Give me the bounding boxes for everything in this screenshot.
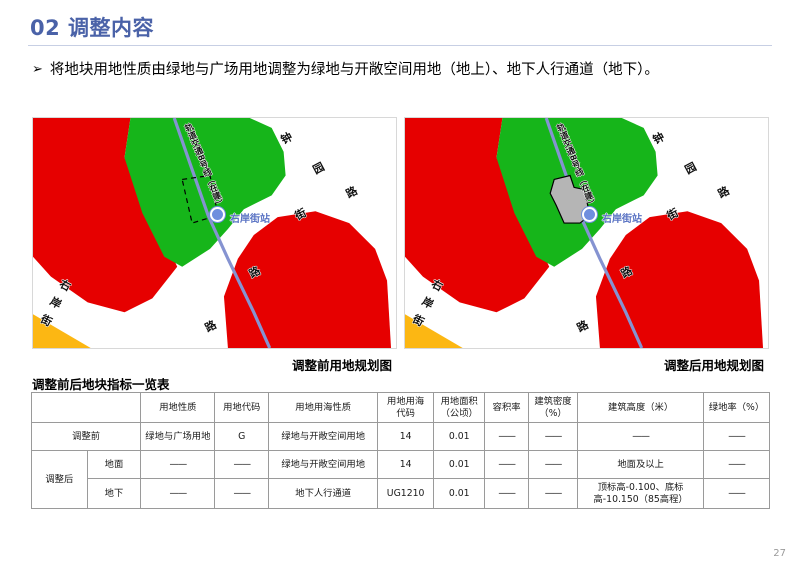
th-area-line2: （公顷） bbox=[441, 408, 478, 419]
cell-sub-underground: 地下 bbox=[87, 479, 141, 509]
map-caption-after: 调整后用地规划图 bbox=[404, 355, 769, 374]
cell-height-2: 顶标高-0.100、底标高-10.150（85高程） bbox=[578, 479, 704, 509]
cell-density-2: —— bbox=[528, 479, 577, 509]
table-header-row: 用地性质 用地代码 用地用海性质 用地用海 代码 用地面积 （公顷） 容积率 建… bbox=[32, 393, 770, 423]
page-title: 02 调整内容 bbox=[30, 12, 154, 42]
cell-use-code-1: —— bbox=[215, 451, 269, 479]
cell-use-nature-2: —— bbox=[141, 479, 215, 509]
th-use-nature: 用地性质 bbox=[141, 393, 215, 423]
map-after[interactable]: 轨道交通8号线（在建） 右岸街站 钟 园 路 街 路 路 右岸街 bbox=[404, 117, 769, 349]
station-dot-before[interactable] bbox=[210, 207, 225, 222]
th-area: 用地面积 （公顷） bbox=[433, 393, 485, 423]
page-number: 27 bbox=[773, 548, 786, 559]
station-label-after: 右岸街站 bbox=[602, 210, 642, 225]
cell-green-rate-1: —— bbox=[703, 451, 769, 479]
bullet-paragraph: ➢ 将地块用地性质由绿地与广场用地调整为绿地与开敞空间用地（地上）、地下人行通道… bbox=[32, 60, 777, 81]
cell-green-rate-0: —— bbox=[703, 423, 769, 451]
th-sea-use-code-line2: 代码 bbox=[396, 408, 415, 419]
th-group bbox=[32, 393, 141, 423]
th-use-code: 用地代码 bbox=[215, 393, 269, 423]
cell-far-1: —— bbox=[485, 451, 528, 479]
th-far: 容积率 bbox=[485, 393, 528, 423]
th-height: 建筑高度（米） bbox=[578, 393, 704, 423]
station-dot-after[interactable] bbox=[582, 207, 597, 222]
cell-sea-use-code-2: UG1210 bbox=[378, 479, 434, 509]
bullet-arrow-icon: ➢ bbox=[32, 60, 43, 80]
th-density-line2: （%） bbox=[539, 408, 566, 419]
cell-green-rate-2: —— bbox=[703, 479, 769, 509]
table-body: 调整前 绿地与广场用地 G 绿地与开敞空间用地 14 0.01 —— —— ——… bbox=[32, 423, 770, 509]
table-row: 调整前 绿地与广场用地 G 绿地与开敞空间用地 14 0.01 —— —— ——… bbox=[32, 423, 770, 451]
th-area-line1: 用地面积 bbox=[441, 396, 478, 407]
table-title: 调整前后地块指标一览表 bbox=[32, 374, 170, 393]
cell-use-code-0: G bbox=[215, 423, 269, 451]
cell-sea-use-nature-2: 地下人行通道 bbox=[269, 479, 378, 509]
cell-group-after: 调整后 bbox=[32, 451, 88, 509]
cell-height-1: 地面及以上 bbox=[578, 451, 704, 479]
title-divider bbox=[28, 45, 772, 46]
map-before-graphic bbox=[33, 118, 396, 348]
th-sea-use-code: 用地用海 代码 bbox=[378, 393, 434, 423]
th-green-rate: 绿地率（%） bbox=[703, 393, 769, 423]
cell-group-before: 调整前 bbox=[32, 423, 141, 451]
cell-use-nature-0: 绿地与广场用地 bbox=[141, 423, 215, 451]
cell-area-1: 0.01 bbox=[433, 451, 485, 479]
table-header: 用地性质 用地代码 用地用海性质 用地用海 代码 用地面积 （公顷） 容积率 建… bbox=[32, 393, 770, 423]
bullet-text: 将地块用地性质由绿地与广场用地调整为绿地与开敞空间用地（地上）、地下人行通道（地… bbox=[50, 60, 659, 81]
table-row: 调整后 地面 —— —— 绿地与开敞空间用地 14 0.01 —— —— 地面及… bbox=[32, 451, 770, 479]
cell-sea-use-code-1: 14 bbox=[378, 451, 434, 479]
cell-height-0: —— bbox=[578, 423, 704, 451]
cell-far-0: —— bbox=[485, 423, 528, 451]
cell-density-0: —— bbox=[528, 423, 577, 451]
cell-sub-ground: 地面 bbox=[87, 451, 141, 479]
th-sea-use-code-line1: 用地用海 bbox=[387, 396, 424, 407]
station-label-before: 右岸街站 bbox=[230, 210, 270, 225]
cell-far-2: —— bbox=[485, 479, 528, 509]
map-caption-before: 调整前用地规划图 bbox=[32, 355, 397, 374]
cell-sea-use-nature-1: 绿地与开敞空间用地 bbox=[269, 451, 378, 479]
indicator-table: 用地性质 用地代码 用地用海性质 用地用海 代码 用地面积 （公顷） 容积率 建… bbox=[31, 392, 770, 509]
map-before[interactable]: 轨道交通8号线（在建） 右岸街站 钟 园 路 街 路 路 右岸街 bbox=[32, 117, 397, 349]
cell-use-nature-1: —— bbox=[141, 451, 215, 479]
map-after-graphic bbox=[405, 118, 768, 348]
figure-before-adjustment: 轨道交通8号线（在建） 右岸街站 钟 园 路 街 路 路 右岸街 调整前用地规划… bbox=[32, 117, 397, 374]
cell-area-2: 0.01 bbox=[433, 479, 485, 509]
th-sea-use-nature: 用地用海性质 bbox=[269, 393, 378, 423]
table-row: 地下 —— —— 地下人行通道 UG1210 0.01 —— —— 顶标高-0.… bbox=[32, 479, 770, 509]
figure-after-adjustment: 轨道交通8号线（在建） 右岸街站 钟 园 路 街 路 路 右岸街 调整后用地规划… bbox=[404, 117, 769, 374]
cell-use-code-2: —— bbox=[215, 479, 269, 509]
cell-sea-use-nature-0: 绿地与开敞空间用地 bbox=[269, 423, 378, 451]
th-density: 建筑密度 （%） bbox=[528, 393, 577, 423]
th-density-line1: 建筑密度 bbox=[534, 396, 571, 407]
cell-area-0: 0.01 bbox=[433, 423, 485, 451]
cell-density-1: —— bbox=[528, 451, 577, 479]
cell-sea-use-code-0: 14 bbox=[378, 423, 434, 451]
